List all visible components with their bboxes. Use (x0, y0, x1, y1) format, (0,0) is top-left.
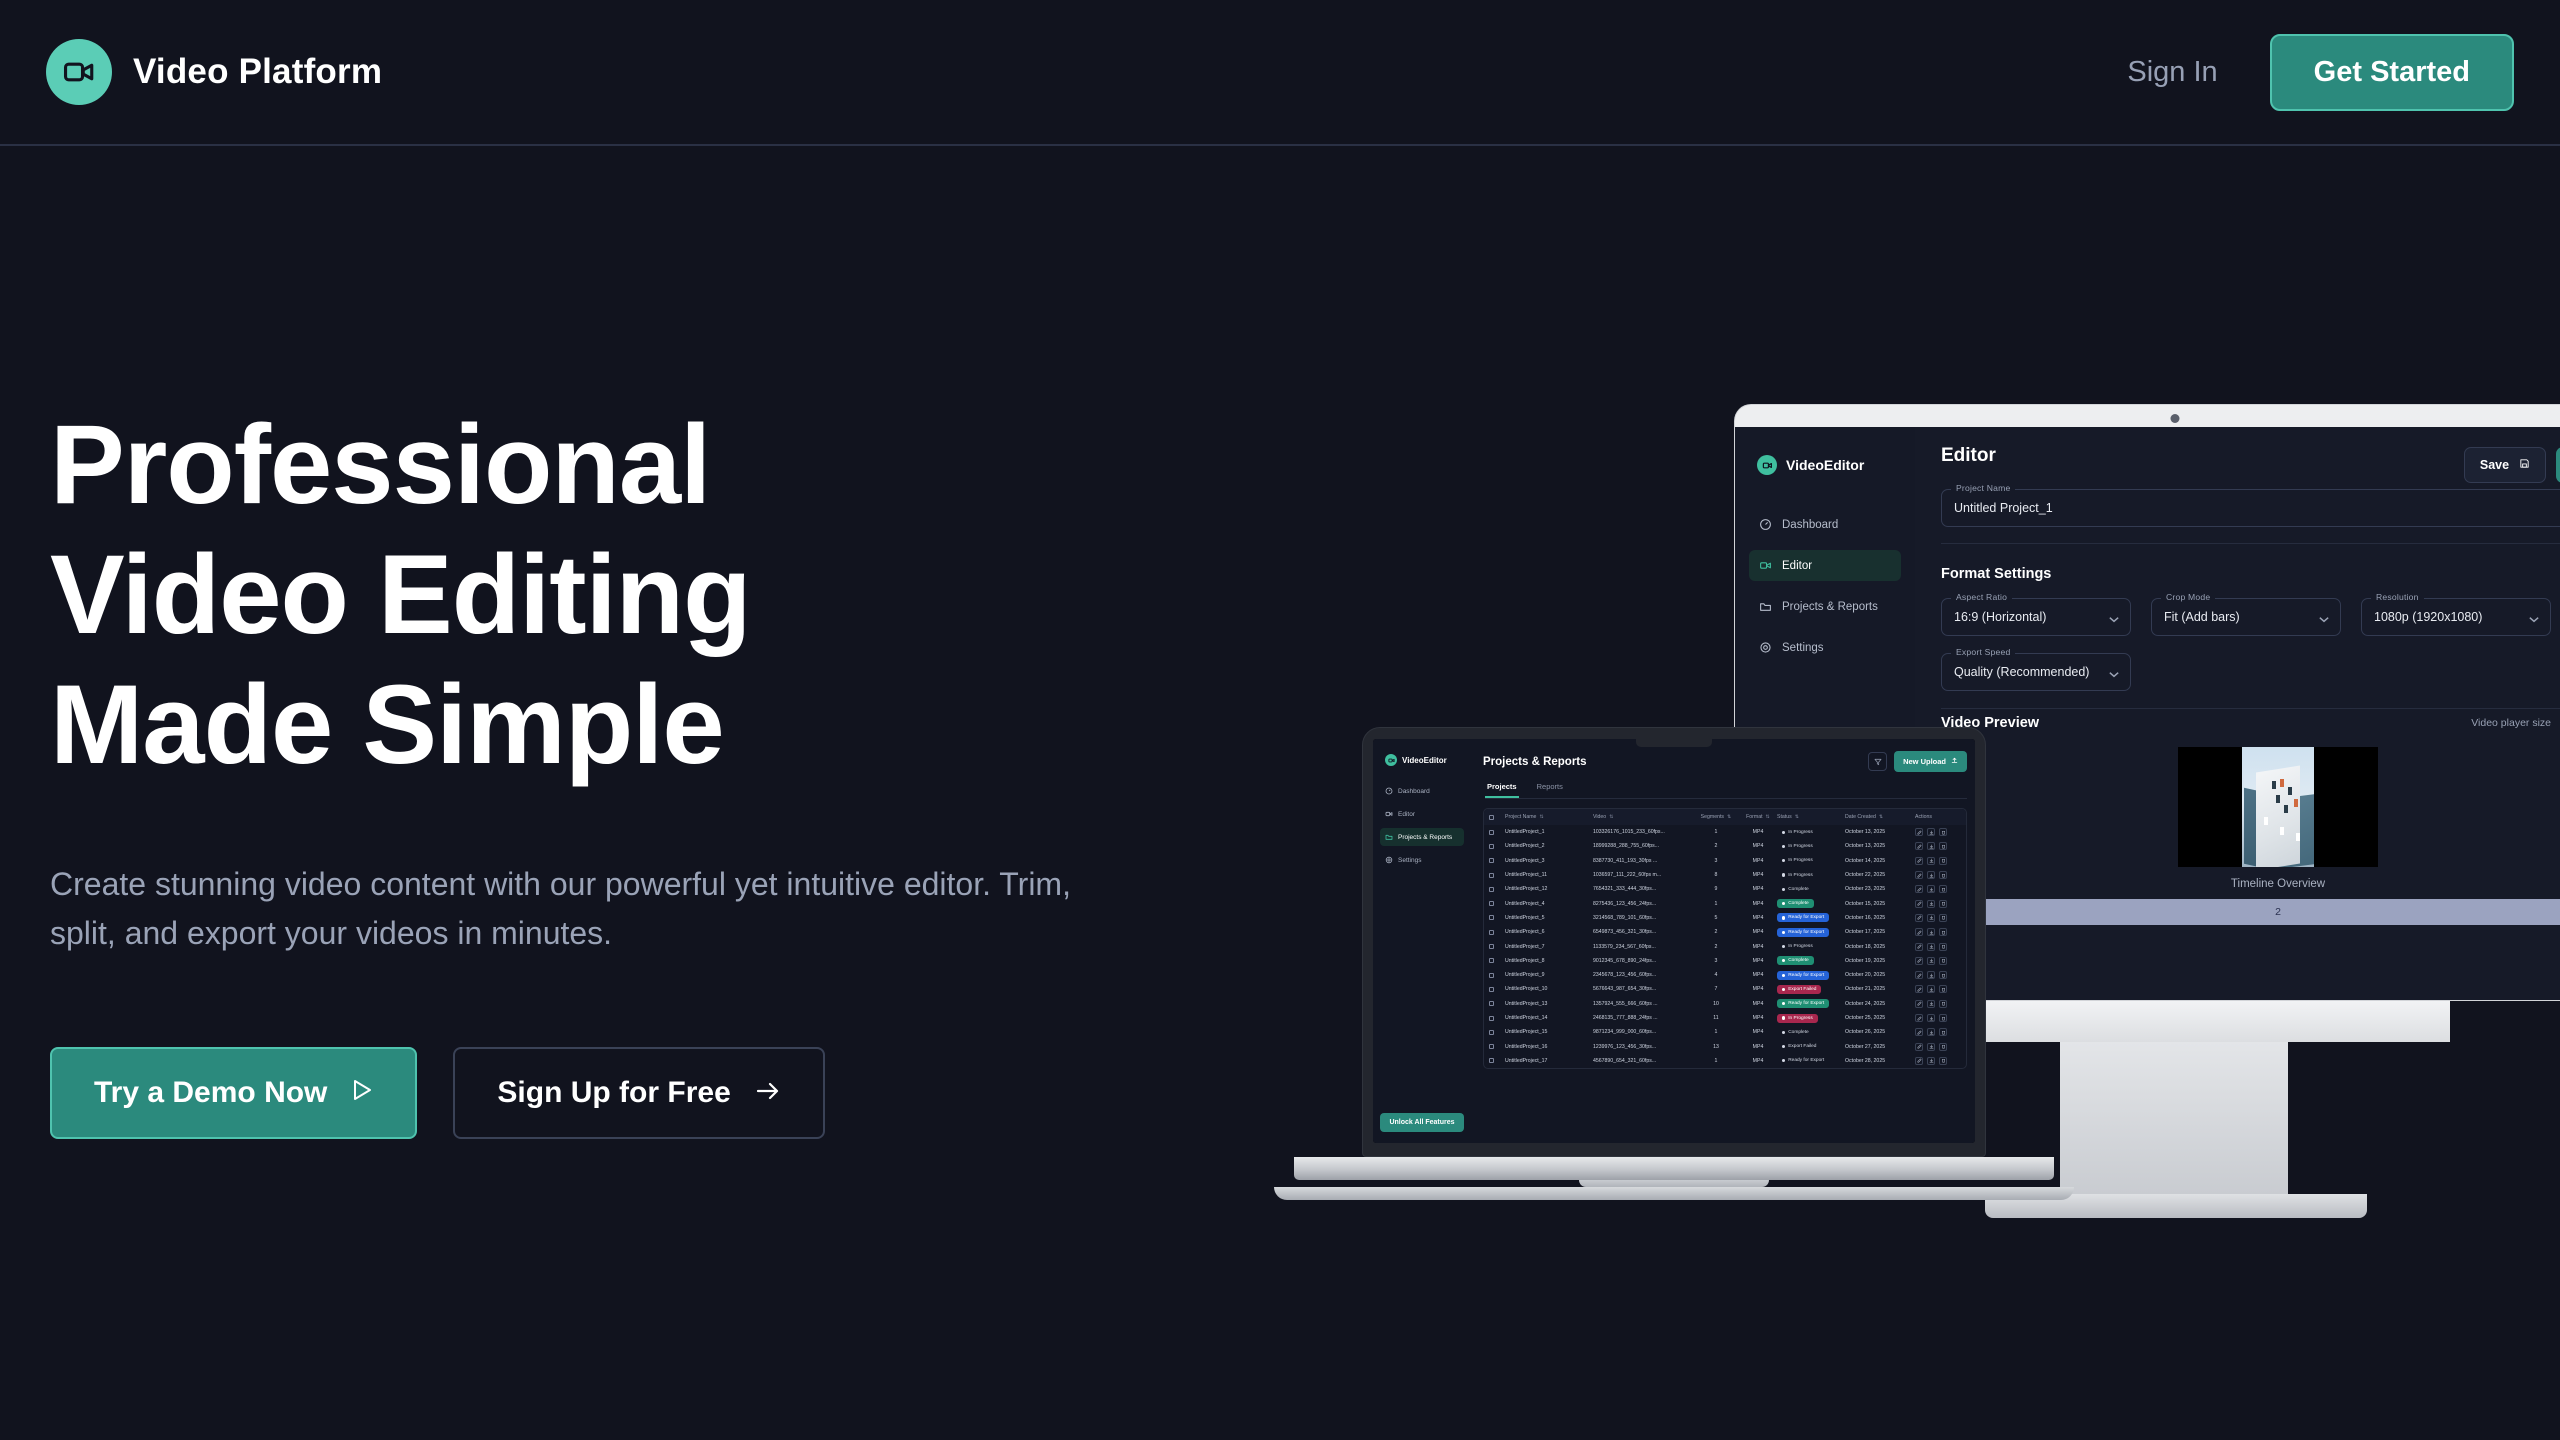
cell-segments: 2 (1693, 843, 1739, 849)
sidebar-item-label: Settings (1398, 857, 1422, 864)
cell-segments: 3 (1693, 858, 1739, 864)
cell-actions (1915, 928, 1961, 936)
format-settings-title: Format Settings (1941, 566, 2560, 582)
editor-toolbar: Save Exp (2464, 447, 2560, 483)
cell-video: 1133579_234_567_60fps... (1593, 944, 1693, 950)
download-icon[interactable] (1927, 1028, 1935, 1036)
edit-icon[interactable] (1915, 943, 1923, 951)
sidebar-item-label: Projects & Reports (1782, 601, 1878, 613)
sign-in-link[interactable]: Sign In (2127, 56, 2217, 89)
timeline-bar[interactable]: 2 (1941, 899, 2560, 925)
cell-segments: 7 (1693, 986, 1739, 992)
row-checkbox[interactable] (1489, 1030, 1505, 1035)
project-name-value: Untitled Project_1 (1954, 501, 2053, 515)
download-icon[interactable] (1927, 900, 1935, 908)
laptop-screen: VideoEditor Dashboard Editor Projects & … (1373, 739, 1975, 1143)
row-checkbox[interactable] (1489, 873, 1505, 878)
sidebar-item-settings[interactable]: Settings (1749, 632, 1901, 663)
cell-format: MP4 (1739, 944, 1777, 950)
column-header-project-name[interactable]: Project Name⇅ (1505, 814, 1593, 820)
trash-icon[interactable] (1939, 943, 1947, 951)
trash-icon[interactable] (1939, 1028, 1947, 1036)
cell-video: 8275436_123_456_24fps... (1593, 901, 1693, 907)
save-label: Save (2480, 458, 2509, 472)
column-header-date-created[interactable]: Date Created⇅ (1845, 814, 1915, 820)
table-row[interactable]: UntitledProject_92345678_123_456_60fps..… (1484, 968, 1966, 982)
download-icon[interactable] (1927, 857, 1935, 865)
export-speed-label: Export Speed (1951, 647, 2015, 657)
sidebar-item-label: Dashboard (1782, 519, 1838, 531)
sort-icon: ⇅ (1539, 814, 1543, 820)
gauge-icon (1385, 787, 1393, 795)
video-frame-thumbnail (2242, 747, 2314, 867)
sidebar-item-label: Editor (1398, 811, 1415, 818)
cell-actions (1915, 871, 1961, 879)
laptop-tabs: Projects Reports (1485, 782, 1967, 799)
table-row[interactable]: UntitledProject_159871234_999_000_60fps.… (1484, 1025, 1966, 1039)
cell-format: MP4 (1739, 1001, 1777, 1007)
cell-date-created: October 22, 2025 (1845, 872, 1915, 878)
cell-video: 1239976_123_456_30fps... (1593, 1044, 1693, 1050)
cell-project-name: UntitledProject_6 (1505, 929, 1593, 935)
status-badge: Complete (1777, 899, 1845, 908)
cell-project-name: UntitledProject_5 (1505, 915, 1593, 921)
sidebar-item-label: Settings (1782, 642, 1824, 654)
cell-date-created: October 24, 2025 (1845, 1001, 1915, 1007)
trash-icon[interactable] (1939, 971, 1947, 979)
edit-icon[interactable] (1915, 828, 1923, 836)
folder-icon (1385, 833, 1393, 841)
aspect-ratio-select[interactable]: Aspect Ratio 16:9 (Horizontal) (1941, 598, 2131, 636)
edit-icon[interactable] (1915, 885, 1923, 893)
sidebar-item-projects-reports[interactable]: Projects & Reports (1749, 591, 1901, 622)
cell-video: 4567890_654_321_60fps... (1593, 1058, 1693, 1064)
cell-date-created: October 13, 2025 (1845, 829, 1915, 835)
row-checkbox[interactable] (1489, 915, 1505, 920)
trash-icon[interactable] (1939, 1043, 1947, 1051)
cell-video: 3214568_789_101_60fps... (1593, 915, 1693, 921)
download-icon[interactable] (1927, 842, 1935, 850)
cell-format: MP4 (1739, 829, 1777, 835)
video-camera-icon (1385, 810, 1393, 818)
cell-format: MP4 (1739, 1044, 1777, 1050)
editor-brand-name: VideoEditor (1786, 457, 1864, 473)
table-row[interactable]: UntitledProject_89012345_678_890_24fps..… (1484, 954, 1966, 968)
trash-icon[interactable] (1939, 842, 1947, 850)
cell-project-name: UntitledProject_11 (1505, 872, 1593, 878)
sidebar-item-label: Projects & Reports (1398, 834, 1452, 841)
status-badge: Ready for Export (1777, 928, 1845, 937)
edit-icon[interactable] (1915, 928, 1923, 936)
aspect-ratio-label: Aspect Ratio (1951, 592, 2012, 602)
row-checkbox[interactable] (1489, 944, 1505, 949)
cell-video: 103326176_1015_233_60fps... (1593, 829, 1693, 835)
cell-format: MP4 (1739, 958, 1777, 964)
row-checkbox[interactable] (1489, 930, 1505, 935)
arrow-right-icon (755, 1076, 781, 1110)
top-navbar: Video Platform Sign In Get Started (0, 0, 2560, 146)
table-row[interactable]: UntitledProject_53214568_789_101_60fps..… (1484, 911, 1966, 925)
cell-date-created: October 17, 2025 (1845, 929, 1915, 935)
cell-project-name: UntitledProject_10 (1505, 986, 1593, 992)
download-icon[interactable] (1927, 885, 1935, 893)
row-checkbox[interactable] (1489, 901, 1505, 906)
sidebar-item-settings[interactable]: Settings (1380, 851, 1464, 869)
sign-up-button[interactable]: Sign Up for Free (453, 1047, 824, 1139)
cell-format: MP4 (1739, 901, 1777, 907)
table-row[interactable]: UntitledProject_127654321_333_444_30fps.… (1484, 882, 1966, 896)
cell-format: MP4 (1739, 1029, 1777, 1035)
sort-icon: ⇅ (1727, 814, 1731, 820)
cell-format: MP4 (1739, 886, 1777, 892)
crop-mode-label: Crop Mode (2161, 592, 2215, 602)
laptop-main-panel: Projects & Reports New Upload (1471, 739, 1975, 1143)
cell-video: 1357924_555_666_60fps ... (1593, 1001, 1693, 1007)
new-upload-button[interactable]: New Upload (1894, 751, 1967, 772)
status-badge: In Progress (1777, 871, 1845, 880)
cell-segments: 10 (1693, 1001, 1739, 1007)
resolution-select[interactable]: Resolution 1080p (1920x1080) (2361, 598, 2551, 636)
row-checkbox[interactable] (1489, 887, 1505, 892)
download-icon[interactable] (1927, 943, 1935, 951)
tab-projects[interactable]: Projects (1485, 782, 1519, 798)
cell-date-created: October 18, 2025 (1845, 944, 1915, 950)
cell-project-name: UntitledProject_3 (1505, 858, 1593, 864)
cell-actions (1915, 943, 1961, 951)
edit-icon[interactable] (1915, 871, 1923, 879)
cell-date-created: October 25, 2025 (1845, 1015, 1915, 1021)
cell-actions (1915, 1028, 1961, 1036)
download-icon[interactable] (1927, 1043, 1935, 1051)
cell-format: MP4 (1739, 843, 1777, 849)
headline-line-2: Video Editing (50, 532, 751, 657)
cell-actions (1915, 885, 1961, 893)
cell-segments: 3 (1693, 958, 1739, 964)
laptop-brand: VideoEditor (1385, 754, 1464, 766)
cell-date-created: October 21, 2025 (1845, 986, 1915, 992)
laptop-notch (1636, 738, 1712, 747)
trash-icon[interactable] (1939, 885, 1947, 893)
row-checkbox[interactable] (1489, 958, 1505, 963)
cell-project-name: UntitledProject_13 (1505, 1001, 1593, 1007)
get-started-button[interactable]: Get Started (2270, 34, 2514, 111)
sidebar-item-label: Editor (1782, 560, 1812, 572)
table-row[interactable]: UntitledProject_111036597_111_222_60fps … (1484, 868, 1966, 882)
sidebar-item-projects-reports[interactable]: Projects & Reports (1380, 828, 1464, 846)
download-icon[interactable] (1927, 928, 1935, 936)
edit-icon[interactable] (1915, 1028, 1923, 1036)
column-header-video[interactable]: Video⇅ (1593, 814, 1693, 820)
download-icon[interactable] (1927, 957, 1935, 965)
download-icon[interactable] (1927, 971, 1935, 979)
export-speed-value: Quality (Recommended) (1954, 665, 2089, 679)
cell-segments: 5 (1693, 915, 1739, 921)
column-header-format[interactable]: Format⇅ (1739, 814, 1777, 820)
cell-video: 8387730_411_193_30fps ... (1593, 858, 1693, 864)
play-triangle-icon (351, 1076, 373, 1110)
cell-format: MP4 (1739, 929, 1777, 935)
trash-icon[interactable] (1939, 957, 1947, 965)
laptop-sidebar: VideoEditor Dashboard Editor Projects & … (1373, 739, 1471, 1143)
laptop-page-header: Projects & Reports New Upload (1483, 751, 1967, 772)
format-settings-row-2: Export Speed Quality (Recommended) (1941, 653, 2560, 691)
trash-icon[interactable] (1939, 914, 1947, 922)
format-settings-row-1: Aspect Ratio 16:9 (Horizontal) Crop Mode… (1941, 598, 2560, 636)
cell-actions (1915, 828, 1961, 836)
cell-video: 9871234_999_000_60fps... (1593, 1029, 1693, 1035)
laptop-lid: VideoEditor Dashboard Editor Projects & … (1362, 727, 1986, 1157)
cell-date-created: October 28, 2025 (1845, 1058, 1915, 1064)
cell-date-created: October 19, 2025 (1845, 958, 1915, 964)
folder-icon (1759, 600, 1772, 613)
video-camera-icon (46, 39, 112, 105)
cell-project-name: UntitledProject_15 (1505, 1029, 1593, 1035)
column-header-segments[interactable]: Segments⇅ (1693, 814, 1739, 820)
cell-project-name: UntitledProject_12 (1505, 886, 1593, 892)
trash-icon[interactable] (1939, 985, 1947, 993)
cell-actions (1915, 857, 1961, 865)
trash-icon[interactable] (1939, 828, 1947, 836)
tab-reports[interactable]: Reports (1535, 782, 1565, 798)
gear-icon (1385, 856, 1393, 864)
table-row[interactable]: UntitledProject_48275436_123_456_24fps..… (1484, 896, 1966, 910)
laptop-foot (1274, 1187, 2074, 1200)
video-camera-icon (1757, 455, 1777, 475)
table-row[interactable]: UntitledProject_218999288_288_755_60fps.… (1484, 839, 1966, 853)
table-row[interactable]: UntitledProject_66549873_456_321_30fps..… (1484, 925, 1966, 939)
table-row[interactable]: UntitledProject_105676643_987_654_30fps.… (1484, 982, 1966, 996)
cell-format: MP4 (1739, 1015, 1777, 1021)
landing-page: Video Platform Sign In Get Started Profe… (0, 0, 2560, 1440)
nav-actions: Sign In Get Started (2127, 34, 2514, 111)
row-checkbox[interactable] (1489, 1016, 1505, 1021)
cell-actions (1915, 900, 1961, 908)
cell-video: 6549873_456_321_30fps... (1593, 929, 1693, 935)
player-size-label: Video player size (2471, 717, 2551, 729)
video-camera-icon (1759, 559, 1772, 572)
status-badge: Ready for Export (1777, 913, 1845, 922)
column-header-status[interactable]: Status⇅ (1777, 814, 1845, 820)
cell-actions (1915, 1043, 1961, 1051)
table-body: UntitledProject_1103326176_1015_233_60fp… (1484, 825, 1966, 1068)
cell-video: 2345678_123_456_60fps... (1593, 972, 1693, 978)
row-checkbox[interactable] (1489, 858, 1505, 863)
row-checkbox[interactable] (1489, 830, 1505, 835)
row-checkbox[interactable] (1489, 987, 1505, 992)
unlock-all-features-button[interactable]: Unlock All Features (1380, 1113, 1464, 1132)
cell-segments: 2 (1693, 944, 1739, 950)
video-player[interactable] (2178, 747, 2378, 867)
cell-video: 9012345_678_890_24fps... (1593, 958, 1693, 964)
status-badge: In Progress (1777, 842, 1845, 851)
headline-line-1: Professional (50, 402, 710, 527)
cell-date-created: October 16, 2025 (1845, 915, 1915, 921)
chevron-down-icon (2319, 612, 2329, 626)
cell-date-created: October 23, 2025 (1845, 886, 1915, 892)
sign-up-label: Sign Up for Free (497, 1076, 730, 1110)
status-badge: In Progress (1777, 828, 1845, 837)
cell-format: MP4 (1739, 915, 1777, 921)
cell-video: 7654321_333_444_30fps... (1593, 886, 1693, 892)
table-row[interactable]: UntitledProject_38387730_411_193_30fps .… (1484, 854, 1966, 868)
player-size-slider[interactable]: Video player size (2471, 717, 2560, 729)
select-all-checkbox[interactable] (1489, 815, 1505, 820)
chevron-down-icon (2109, 612, 2119, 626)
sidebar-item-editor[interactable]: Editor (1380, 805, 1464, 823)
status-badge: Ready for Export (1777, 999, 1845, 1008)
table-row[interactable]: UntitledProject_1103326176_1015_233_60fp… (1484, 825, 1966, 839)
sort-icon: ⇅ (1879, 814, 1883, 820)
cell-segments: 13 (1693, 1044, 1739, 1050)
cell-segments: 8 (1693, 872, 1739, 878)
cell-project-name: UntitledProject_1 (1505, 829, 1593, 835)
download-icon[interactable] (1927, 871, 1935, 879)
download-icon[interactable] (1927, 828, 1935, 836)
edit-icon[interactable] (1915, 900, 1923, 908)
download-icon[interactable] (1927, 914, 1935, 922)
table-row[interactable]: UntitledProject_161239976_123_456_30fps.… (1484, 1039, 1966, 1053)
cell-format: MP4 (1739, 1058, 1777, 1064)
sidebar-item-label: Dashboard (1398, 788, 1430, 795)
trash-icon[interactable] (1939, 1057, 1947, 1065)
edit-icon[interactable] (1915, 1014, 1923, 1022)
download-icon[interactable] (1927, 1000, 1935, 1008)
timeline-overview-label: Timeline Overview (1941, 878, 2560, 890)
table-row[interactable]: UntitledProject_174567890_654_321_60fps.… (1484, 1054, 1966, 1068)
cell-format: MP4 (1739, 972, 1777, 978)
edit-icon[interactable] (1915, 1043, 1923, 1051)
row-checkbox[interactable] (1489, 844, 1505, 849)
cell-segments: 9 (1693, 886, 1739, 892)
cell-segments: 1 (1693, 1058, 1739, 1064)
cell-format: MP4 (1739, 872, 1777, 878)
download-icon[interactable] (1927, 1014, 1935, 1022)
cell-project-name: UntitledProject_4 (1505, 901, 1593, 907)
cell-video: 1036597_111_222_60fps m... (1593, 872, 1693, 878)
table-row[interactable]: UntitledProject_131357924_555_666_60fps … (1484, 997, 1966, 1011)
cell-actions (1915, 842, 1961, 850)
edit-icon[interactable] (1915, 842, 1923, 850)
floppy-disk-icon (2519, 458, 2530, 472)
laptop-header-actions: New Upload (1868, 751, 1967, 772)
cell-project-name: UntitledProject_14 (1505, 1015, 1593, 1021)
edit-icon[interactable] (1915, 985, 1923, 993)
filter-icon[interactable] (1868, 752, 1887, 771)
edit-icon[interactable] (1915, 1000, 1923, 1008)
download-icon[interactable] (1927, 985, 1935, 993)
status-badge: Export Failed (1777, 1042, 1845, 1051)
status-badge: Complete (1777, 1028, 1845, 1037)
row-checkbox[interactable] (1489, 973, 1505, 978)
trash-icon[interactable] (1939, 900, 1947, 908)
table-header-row: Project Name⇅ Video⇅ Segments⇅ Format⇅ S… (1484, 809, 1966, 825)
crop-mode-select[interactable]: Crop Mode Fit (Add bars) (2151, 598, 2341, 636)
status-badge: In Progress (1777, 1014, 1845, 1023)
export-button[interactable]: Exp (2556, 447, 2560, 483)
cell-segments: 11 (1693, 1015, 1739, 1021)
divider (1941, 708, 2560, 709)
cell-date-created: October 15, 2025 (1845, 901, 1915, 907)
divider (1941, 543, 2560, 544)
row-checkbox[interactable] (1489, 1044, 1505, 1049)
projects-table: Project Name⇅ Video⇅ Segments⇅ Format⇅ S… (1483, 808, 1967, 1069)
edit-icon[interactable] (1915, 857, 1923, 865)
cell-video: 5676643_987_654_30fps... (1593, 986, 1693, 992)
sidebar-item-dashboard[interactable]: Dashboard (1749, 509, 1901, 540)
laptop-trackpad-notch (1579, 1180, 1769, 1187)
gear-icon (1759, 641, 1772, 654)
trash-icon[interactable] (1939, 1000, 1947, 1008)
resolution-value: 1080p (1920x1080) (2374, 610, 2482, 624)
download-icon[interactable] (1927, 1057, 1935, 1065)
save-button[interactable]: Save (2464, 447, 2546, 483)
cell-format: MP4 (1739, 986, 1777, 992)
sort-icon: ⇅ (1766, 814, 1770, 820)
row-checkbox[interactable] (1489, 1058, 1505, 1063)
status-badge: Ready for Export (1777, 971, 1845, 980)
laptop-page-title: Projects & Reports (1483, 756, 1587, 768)
edit-icon[interactable] (1915, 971, 1923, 979)
cell-project-name: UntitledProject_9 (1505, 972, 1593, 978)
cell-segments: 4 (1693, 972, 1739, 978)
gauge-icon (1759, 518, 1772, 531)
row-checkbox[interactable] (1489, 1001, 1505, 1006)
cell-actions (1915, 971, 1961, 979)
export-speed-select[interactable]: Export Speed Quality (Recommended) (1941, 653, 2131, 691)
trash-icon[interactable] (1939, 928, 1947, 936)
cell-project-name: UntitledProject_16 (1505, 1044, 1593, 1050)
video-preview-header: Video Preview Video player size (1941, 715, 2560, 731)
laptop-mockup: VideoEditor Dashboard Editor Projects & … (1362, 727, 1986, 1200)
trash-icon[interactable] (1939, 857, 1947, 865)
editor-main-panel: Editor Save Exp Project Name Untitled Pr… (1915, 427, 2560, 1000)
cell-project-name: UntitledProject_17 (1505, 1058, 1593, 1064)
cell-actions (1915, 914, 1961, 922)
crop-mode-value: Fit (Add bars) (2164, 610, 2240, 624)
sort-icon: ⇅ (1609, 814, 1613, 820)
cell-segments: 2 (1693, 929, 1739, 935)
hero-section: Professional Video Editing Made Simple C… (50, 400, 1110, 1139)
cell-video: 2468135_777_888_24fps ... (1593, 1015, 1693, 1021)
status-badge: Complete (1777, 956, 1845, 965)
cell-actions (1915, 1014, 1961, 1022)
upload-icon (1951, 757, 1958, 766)
trash-icon[interactable] (1939, 871, 1947, 879)
table-row[interactable]: UntitledProject_71133579_234_567_60fps..… (1484, 939, 1966, 953)
cell-date-created: October 27, 2025 (1845, 1044, 1915, 1050)
sidebar-item-dashboard[interactable]: Dashboard (1380, 782, 1464, 800)
sort-icon: ⇅ (1795, 814, 1799, 820)
try-demo-button[interactable]: Try a Demo Now (50, 1047, 417, 1139)
status-badge: Export Failed (1777, 985, 1845, 994)
brand-logo-group[interactable]: Video Platform (46, 39, 382, 105)
table-row[interactable]: UntitledProject_142468135_777_888_24fps … (1484, 1011, 1966, 1025)
cell-segments: 1 (1693, 1029, 1739, 1035)
cell-actions (1915, 957, 1961, 965)
edit-icon[interactable] (1915, 1057, 1923, 1065)
cell-date-created: October 14, 2025 (1845, 858, 1915, 864)
edit-icon[interactable] (1915, 957, 1923, 965)
webcam-dot-icon (2171, 414, 2180, 423)
edit-icon[interactable] (1915, 914, 1923, 922)
cell-project-name: UntitledProject_2 (1505, 843, 1593, 849)
trash-icon[interactable] (1939, 1014, 1947, 1022)
project-name-label: Project Name (1951, 483, 2015, 493)
cell-format: MP4 (1739, 858, 1777, 864)
project-name-field[interactable]: Project Name Untitled Project_1 (1941, 489, 2560, 527)
sidebar-item-editor[interactable]: Editor (1749, 550, 1901, 581)
headline-line-3: Made Simple (50, 662, 724, 787)
